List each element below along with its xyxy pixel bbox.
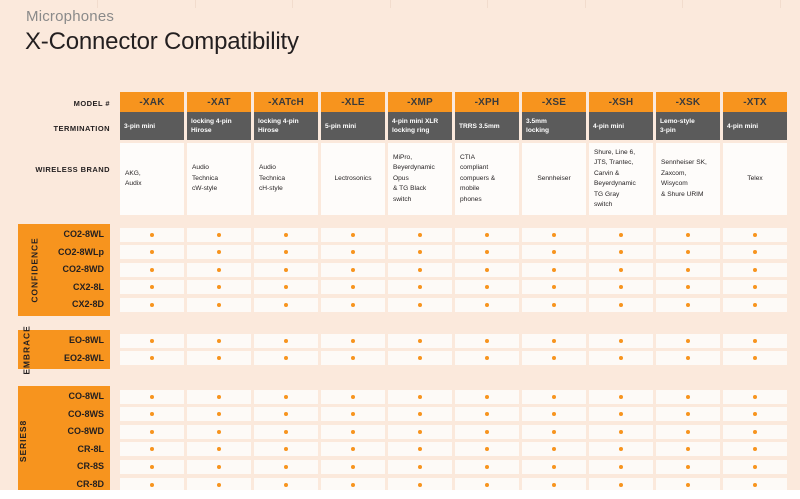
table-cell[interactable] — [656, 425, 720, 439]
table-cell[interactable] — [455, 245, 519, 259]
table-cell[interactable] — [455, 228, 519, 242]
table-cell[interactable] — [321, 245, 385, 259]
table-cell[interactable] — [254, 245, 318, 259]
compatibility-chart-page: Microphones X-Connector Compatibility MO… — [0, 0, 800, 499]
compatible-dot-icon — [619, 483, 623, 487]
table-cell[interactable] — [254, 298, 318, 312]
table-cell[interactable] — [656, 245, 720, 259]
table-cell[interactable] — [388, 442, 452, 456]
table-cell[interactable] — [656, 298, 720, 312]
table-cell[interactable] — [589, 460, 653, 474]
table-cell[interactable] — [589, 228, 653, 242]
page-title: X-Connector Compatibility — [25, 28, 299, 56]
compatible-dot-icon — [686, 303, 690, 307]
compatible-dot-icon — [284, 356, 288, 360]
table-cell[interactable] — [656, 407, 720, 421]
compatible-dot-icon — [485, 250, 489, 254]
table-cell[interactable] — [522, 425, 586, 439]
table-cell[interactable] — [522, 407, 586, 421]
table-cell[interactable] — [187, 263, 251, 277]
row-label-cr-8l[interactable]: CR-8L — [32, 441, 104, 458]
compatible-dot-icon — [217, 483, 221, 487]
compatible-dot-icon — [619, 339, 623, 343]
compatible-dot-icon — [150, 430, 154, 434]
table-cell[interactable] — [522, 298, 586, 312]
compatible-dot-icon — [150, 465, 154, 469]
compatible-dot-icon — [351, 339, 355, 343]
termination-cell-xsk: Lemo-style3-pin — [656, 112, 720, 140]
model-header-xmp[interactable]: -XMP — [388, 92, 452, 112]
table-cell[interactable] — [321, 334, 385, 348]
compatible-dot-icon — [351, 430, 355, 434]
table-cell[interactable] — [388, 280, 452, 294]
compatible-dot-icon — [753, 430, 757, 434]
table-cell[interactable] — [321, 280, 385, 294]
compatible-dot-icon — [217, 339, 221, 343]
table-cell[interactable] — [120, 228, 184, 242]
compatible-dot-icon — [351, 233, 355, 237]
compatible-dot-icon — [686, 447, 690, 451]
table-cell[interactable] — [254, 280, 318, 294]
compatible-dot-icon — [284, 483, 288, 487]
table-cell[interactable] — [522, 442, 586, 456]
table-cell[interactable] — [388, 298, 452, 312]
table-cell[interactable] — [656, 442, 720, 456]
bottom-strip — [0, 490, 800, 499]
group-block-confidence: CONFIDENCECO2-8WLCO2-8WLpCO2-8WDCX2-8LCX… — [18, 224, 110, 316]
compatible-dot-icon — [753, 412, 757, 416]
compatible-dot-icon — [284, 268, 288, 272]
group-block-embrace: EMBRACEEO-8WLEO2-8WL — [18, 330, 110, 369]
table-cell[interactable] — [723, 263, 787, 277]
compatible-dot-icon — [351, 303, 355, 307]
compatible-dot-icon — [753, 465, 757, 469]
compatible-dot-icon — [619, 395, 623, 399]
compatible-dot-icon — [150, 285, 154, 289]
table-cell[interactable] — [522, 245, 586, 259]
compatible-dot-icon — [485, 268, 489, 272]
table-cell[interactable] — [120, 245, 184, 259]
compatible-dot-icon — [619, 430, 623, 434]
compatible-dot-icon — [552, 483, 556, 487]
compatible-dot-icon — [284, 303, 288, 307]
compatible-dot-icon — [686, 465, 690, 469]
compatible-dot-icon — [686, 430, 690, 434]
table-cell[interactable] — [321, 460, 385, 474]
table-cell[interactable] — [120, 351, 184, 365]
row-label-cx2-8d[interactable]: CX2-8D — [32, 296, 104, 313]
brand-cell-xsk: Sennheiser SK,Zaxcom,Wisycom& Shure URIM — [656, 143, 720, 215]
compatible-dot-icon — [552, 356, 556, 360]
compatible-dot-icon — [351, 447, 355, 451]
row-label-co-8wl[interactable]: CO-8WL — [32, 388, 104, 405]
model-header-xsk[interactable]: -XSK — [656, 92, 720, 112]
compatible-dot-icon — [351, 483, 355, 487]
termination-cell-xmp: 4-pin mini XLRlocking ring — [388, 112, 452, 140]
model-header-xph[interactable]: -XPH — [455, 92, 519, 112]
table-cell[interactable] — [656, 263, 720, 277]
table-cell[interactable] — [254, 460, 318, 474]
table-cell[interactable] — [656, 460, 720, 474]
header-label-wireless-brand: WIRELESS BRAND — [0, 165, 110, 174]
kicker-label: Microphones — [26, 8, 114, 25]
table-cell[interactable] — [723, 351, 787, 365]
compatible-dot-icon — [753, 483, 757, 487]
table-cell[interactable] — [522, 334, 586, 348]
compatible-dot-icon — [753, 250, 757, 254]
row-label-cr-8s[interactable]: CR-8S — [32, 458, 104, 475]
table-cell[interactable] — [187, 280, 251, 294]
compatible-dot-icon — [284, 250, 288, 254]
compatible-dot-icon — [619, 356, 623, 360]
brand-cell-xsh: Shure, Line 6,JTS, Trantec,Carvin &Beyer… — [589, 143, 653, 215]
compatible-dot-icon — [753, 339, 757, 343]
compatible-dot-icon — [753, 303, 757, 307]
compatible-dot-icon — [485, 285, 489, 289]
compatible-dot-icon — [686, 412, 690, 416]
compatible-dot-icon — [418, 356, 422, 360]
termination-cell-xle: 5-pin mini — [321, 112, 385, 140]
table-cell[interactable] — [656, 334, 720, 348]
table-cell[interactable] — [321, 351, 385, 365]
compatible-dot-icon — [217, 395, 221, 399]
table-cell[interactable] — [388, 390, 452, 404]
compatible-dot-icon — [217, 233, 221, 237]
compatible-dot-icon — [552, 430, 556, 434]
table-cell[interactable] — [522, 351, 586, 365]
compatible-dot-icon — [619, 465, 623, 469]
table-cell[interactable] — [723, 407, 787, 421]
table-cell[interactable] — [589, 298, 653, 312]
row-label-eo2-8wl[interactable]: EO2-8WL — [32, 350, 104, 367]
table-cell[interactable] — [455, 280, 519, 294]
model-header-xsh[interactable]: -XSH — [589, 92, 653, 112]
table-cell[interactable] — [321, 298, 385, 312]
termination-cell-xak: 3-pin mini — [120, 112, 184, 140]
table-cell[interactable] — [254, 425, 318, 439]
compatible-dot-icon — [485, 447, 489, 451]
table-cell[interactable] — [522, 460, 586, 474]
compatible-dot-icon — [686, 395, 690, 399]
row-label-co2-8wl[interactable]: CO2-8WL — [32, 226, 104, 243]
table-cell[interactable] — [723, 442, 787, 456]
compatible-dot-icon — [552, 303, 556, 307]
group-title-series8: SERIES8 — [18, 420, 28, 462]
table-cell[interactable] — [589, 390, 653, 404]
table-cell[interactable] — [187, 390, 251, 404]
table-cell[interactable] — [120, 334, 184, 348]
table-cell[interactable] — [522, 263, 586, 277]
table-cell[interactable] — [321, 442, 385, 456]
table-cell[interactable] — [723, 280, 787, 294]
compatible-dot-icon — [217, 356, 221, 360]
compatible-dot-icon — [619, 447, 623, 451]
brand-cell-xph: CTIAcompliantcompuers &mobilephones — [455, 143, 519, 215]
compatible-dot-icon — [418, 250, 422, 254]
table-cell[interactable] — [321, 228, 385, 242]
compatible-dot-icon — [150, 268, 154, 272]
compatible-dot-icon — [619, 285, 623, 289]
brand-cell-xak: AKG,Audix — [120, 143, 184, 215]
compatible-dot-icon — [150, 447, 154, 451]
compatible-dot-icon — [150, 395, 154, 399]
model-header-xle[interactable]: -XLE — [321, 92, 385, 112]
compatible-dot-icon — [351, 356, 355, 360]
compatible-dot-icon — [284, 430, 288, 434]
compatible-dot-icon — [552, 395, 556, 399]
compatible-dot-icon — [351, 412, 355, 416]
header-label-model: MODEL # — [0, 99, 110, 108]
table-cell[interactable] — [254, 334, 318, 348]
table-cell[interactable] — [254, 442, 318, 456]
table-cell[interactable] — [723, 334, 787, 348]
brand-cell-xle: Lectrosonics — [321, 143, 385, 215]
compatible-dot-icon — [485, 303, 489, 307]
row-label-co-8wd[interactable]: CO-8WD — [32, 423, 104, 440]
table-cell[interactable] — [187, 425, 251, 439]
termination-cell-xsh: 4-pin mini — [589, 112, 653, 140]
table-cell[interactable] — [254, 228, 318, 242]
table-cell[interactable] — [388, 334, 452, 348]
row-label-co2-8wlp[interactable]: CO2-8WLp — [32, 244, 104, 261]
table-cell[interactable] — [589, 351, 653, 365]
compatible-dot-icon — [418, 339, 422, 343]
table-cell[interactable] — [723, 298, 787, 312]
compatible-dot-icon — [217, 447, 221, 451]
brand-cell-xat: AudioTechnicacW-style — [187, 143, 251, 215]
compatible-dot-icon — [485, 339, 489, 343]
compatible-dot-icon — [284, 465, 288, 469]
table-cell[interactable] — [656, 280, 720, 294]
table-cell[interactable] — [187, 407, 251, 421]
compatible-dot-icon — [418, 412, 422, 416]
table-cell[interactable] — [455, 263, 519, 277]
table-cell[interactable] — [656, 351, 720, 365]
model-header-xse[interactable]: -XSE — [522, 92, 586, 112]
table-cell[interactable] — [120, 407, 184, 421]
group-block-series8: SERIES8CO-8WLCO-8WSCO-8WDCR-8LCR-8SCR-8D — [18, 386, 110, 496]
compatible-dot-icon — [686, 285, 690, 289]
compatible-dot-icon — [753, 447, 757, 451]
compatible-dot-icon — [552, 250, 556, 254]
compatible-dot-icon — [150, 339, 154, 343]
compatible-dot-icon — [284, 339, 288, 343]
group-row-labels: CO2-8WLCO2-8WLpCO2-8WDCX2-8LCX2-8D — [32, 224, 104, 316]
table-cell[interactable] — [120, 390, 184, 404]
compatible-dot-icon — [552, 285, 556, 289]
table-cell[interactable] — [455, 407, 519, 421]
compatible-dot-icon — [619, 268, 623, 272]
table-cell[interactable] — [589, 334, 653, 348]
compatible-dot-icon — [686, 233, 690, 237]
compatible-dot-icon — [418, 303, 422, 307]
compatible-dot-icon — [284, 447, 288, 451]
table-cell[interactable] — [120, 263, 184, 277]
group-title-embrace: EMBRACE — [22, 325, 32, 374]
table-cell[interactable] — [723, 390, 787, 404]
compatible-dot-icon — [552, 412, 556, 416]
table-cell[interactable] — [589, 425, 653, 439]
compatible-dot-icon — [351, 465, 355, 469]
table-cell[interactable] — [723, 425, 787, 439]
table-cell[interactable] — [120, 442, 184, 456]
table-cell[interactable] — [187, 460, 251, 474]
compatible-dot-icon — [217, 430, 221, 434]
compatible-dot-icon — [753, 356, 757, 360]
table-cell[interactable] — [187, 442, 251, 456]
compatible-dot-icon — [485, 412, 489, 416]
termination-cell-xtx: 4-pin mini — [723, 112, 787, 140]
table-cell[interactable] — [120, 298, 184, 312]
compatible-dot-icon — [284, 285, 288, 289]
table-cell[interactable] — [522, 390, 586, 404]
table-cell[interactable] — [455, 460, 519, 474]
compatible-dot-icon — [217, 412, 221, 416]
compatible-dot-icon — [418, 268, 422, 272]
compatible-dot-icon — [619, 250, 623, 254]
row-label-co-8ws[interactable]: CO-8WS — [32, 406, 104, 423]
compatible-dot-icon — [150, 483, 154, 487]
compatible-dot-icon — [485, 430, 489, 434]
compatible-dot-icon — [485, 395, 489, 399]
table-cell[interactable] — [455, 334, 519, 348]
table-cell[interactable] — [723, 228, 787, 242]
compatible-dot-icon — [753, 233, 757, 237]
model-header-xatch[interactable]: -XATcH — [254, 92, 318, 112]
compatible-dot-icon — [418, 285, 422, 289]
table-cell[interactable] — [321, 390, 385, 404]
table-cell[interactable] — [723, 460, 787, 474]
table-cell[interactable] — [388, 263, 452, 277]
table-cell[interactable] — [455, 298, 519, 312]
table-cell[interactable] — [589, 407, 653, 421]
table-cell[interactable] — [589, 280, 653, 294]
model-header-xak[interactable]: -XAK — [120, 92, 184, 112]
group-row-labels: EO-8WLEO2-8WL — [32, 330, 104, 369]
table-cell[interactable] — [120, 280, 184, 294]
table-cell[interactable] — [455, 390, 519, 404]
table-cell[interactable] — [455, 351, 519, 365]
table-cell[interactable] — [254, 407, 318, 421]
compatible-dot-icon — [150, 250, 154, 254]
compatible-dot-icon — [686, 250, 690, 254]
compatible-dot-icon — [686, 356, 690, 360]
table-cell[interactable] — [589, 263, 653, 277]
row-label-eo-8wl[interactable]: EO-8WL — [32, 332, 104, 349]
compatible-dot-icon — [552, 233, 556, 237]
table-cell[interactable] — [455, 425, 519, 439]
table-cell[interactable] — [254, 351, 318, 365]
table-cell[interactable] — [589, 245, 653, 259]
compatible-dot-icon — [619, 303, 623, 307]
compatible-dot-icon — [619, 412, 623, 416]
table-cell[interactable] — [388, 351, 452, 365]
table-cell[interactable] — [656, 228, 720, 242]
compatible-dot-icon — [485, 483, 489, 487]
table-cell[interactable] — [187, 245, 251, 259]
compatible-dot-icon — [351, 285, 355, 289]
compatible-dot-icon — [351, 250, 355, 254]
table-cell[interactable] — [321, 425, 385, 439]
compatible-dot-icon — [418, 430, 422, 434]
table-cell[interactable] — [589, 442, 653, 456]
group-row-labels: CO-8WLCO-8WSCO-8WDCR-8LCR-8SCR-8D — [32, 386, 104, 496]
model-header-xat[interactable]: -XAT — [187, 92, 251, 112]
compatible-dot-icon — [418, 465, 422, 469]
termination-cell-xph: TRRS 3.5mm — [455, 112, 519, 140]
table-cell[interactable] — [388, 228, 452, 242]
table-cell[interactable] — [120, 460, 184, 474]
table-cell[interactable] — [522, 280, 586, 294]
termination-cell-xse: 3.5mmlocking — [522, 112, 586, 140]
compatible-dot-icon — [284, 233, 288, 237]
compatible-dot-icon — [217, 250, 221, 254]
model-header-xtx[interactable]: -XTX — [723, 92, 787, 112]
brand-cell-xmp: MiPro,BeyerdynamicOpus& TG Blackswitch — [388, 143, 452, 215]
table-cell[interactable] — [187, 228, 251, 242]
table-cell[interactable] — [388, 407, 452, 421]
table-cell[interactable] — [723, 245, 787, 259]
compatible-dot-icon — [217, 303, 221, 307]
table-cell[interactable] — [455, 442, 519, 456]
compatible-dot-icon — [217, 285, 221, 289]
table-cell[interactable] — [321, 263, 385, 277]
table-cell[interactable] — [254, 263, 318, 277]
table-cell[interactable] — [187, 334, 251, 348]
table-cell[interactable] — [388, 245, 452, 259]
row-label-co2-8wd[interactable]: CO2-8WD — [32, 261, 104, 278]
table-cell[interactable] — [388, 425, 452, 439]
compatible-dot-icon — [485, 465, 489, 469]
compatible-dot-icon — [418, 483, 422, 487]
compatible-dot-icon — [753, 268, 757, 272]
row-label-cx2-8l[interactable]: CX2-8L — [32, 279, 104, 296]
compatible-dot-icon — [552, 465, 556, 469]
table-cell[interactable] — [321, 407, 385, 421]
header-label-termination: TERMINATION — [0, 124, 110, 133]
compatible-dot-icon — [686, 483, 690, 487]
compatible-dot-icon — [485, 233, 489, 237]
compatible-dot-icon — [418, 233, 422, 237]
compatible-dot-icon — [217, 465, 221, 469]
compatible-dot-icon — [686, 339, 690, 343]
compatible-dot-icon — [552, 339, 556, 343]
compatible-dot-icon — [150, 303, 154, 307]
compatible-dot-icon — [619, 233, 623, 237]
table-cell[interactable] — [187, 351, 251, 365]
table-cell[interactable] — [254, 390, 318, 404]
table-cell[interactable] — [656, 390, 720, 404]
table-cell[interactable] — [388, 460, 452, 474]
table-cell[interactable] — [522, 228, 586, 242]
table-cell[interactable] — [120, 425, 184, 439]
compatible-dot-icon — [552, 268, 556, 272]
compatible-dot-icon — [351, 268, 355, 272]
table-cell[interactable] — [187, 298, 251, 312]
termination-cell-xatch: locking 4-pinHirose — [254, 112, 318, 140]
compatible-dot-icon — [351, 395, 355, 399]
compatible-dot-icon — [418, 447, 422, 451]
termination-cell-xat: locking 4-pinHirose — [187, 112, 251, 140]
compatible-dot-icon — [552, 447, 556, 451]
compatible-dot-icon — [753, 285, 757, 289]
compatible-dot-icon — [150, 233, 154, 237]
brand-cell-xtx: Telex — [723, 143, 787, 215]
compatible-dot-icon — [753, 395, 757, 399]
compatible-dot-icon — [217, 268, 221, 272]
compatible-dot-icon — [418, 395, 422, 399]
compatible-dot-icon — [150, 356, 154, 360]
